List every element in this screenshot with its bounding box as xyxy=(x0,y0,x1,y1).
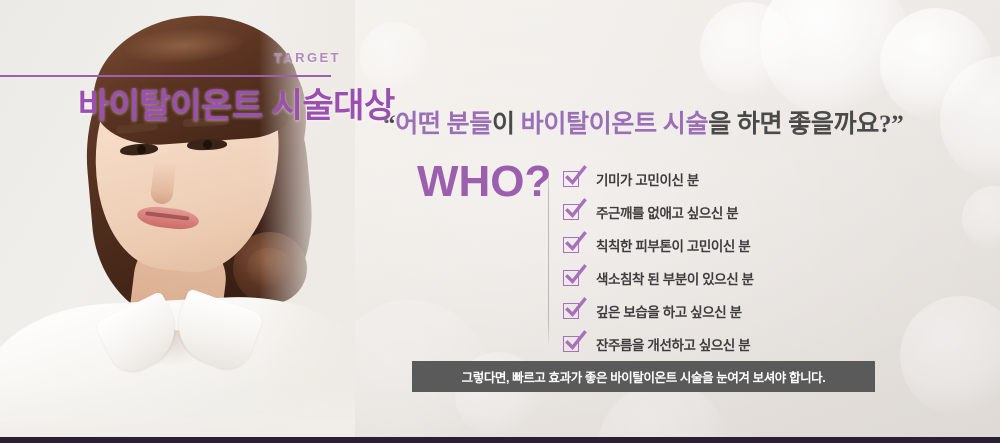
page-title: 바이탈이온트 시술대상 xyxy=(78,78,395,127)
portrait-bottom-fade xyxy=(0,385,355,437)
list-item: 잔주름을 개선하고 싶으신 분 xyxy=(563,330,754,358)
list-item: 주근깨를 없애고 싶으신 분 xyxy=(563,198,754,226)
list-item-label: 칙칙한 피부톤이 고민이신 분 xyxy=(596,235,750,255)
bottom-accent-strip xyxy=(0,437,1000,443)
section-eyebrow-label: TARGET xyxy=(274,50,341,65)
portrait-pupil-right xyxy=(203,140,212,149)
list-item-label: 기미가 고민이신 분 xyxy=(596,169,699,189)
list-item-label: 색소침착 된 부분이 있으신 분 xyxy=(596,268,754,288)
portrait-edge-fade xyxy=(259,0,355,437)
checkmark-icon xyxy=(563,204,579,220)
footnote-text: 그렇다면, 빠르고 효과가 좋은 바이탈이온트 시술을 눈여겨 보셔야 합니다. xyxy=(462,367,826,386)
list-item: 깊은 보습을 하고 싶으신 분 xyxy=(563,297,754,325)
quote-part-3: 바이탈이온트 시술 xyxy=(521,111,709,138)
checkmark-icon xyxy=(563,237,579,253)
promo-banner: TARGET 바이탈이온트 시술대상 “어떤 분들이 바이탈이온트 시술을 하면… xyxy=(0,0,1000,443)
quote-part-2: 이 xyxy=(492,111,521,138)
checkmark-icon xyxy=(563,171,579,187)
title-underline-rule xyxy=(0,75,331,77)
checkmark-icon xyxy=(563,303,579,319)
portrait-pupil-left xyxy=(137,145,146,154)
checkmark-icon xyxy=(563,336,579,352)
list-item-label: 깊은 보습을 하고 싶으신 분 xyxy=(596,301,742,321)
quote-part-1: 어떤 분들 xyxy=(395,111,492,138)
vertical-divider xyxy=(548,166,549,346)
list-item-label: 잔주름을 개선하고 싶으신 분 xyxy=(596,334,750,354)
model-portrait-photo xyxy=(0,0,355,437)
quote-close-mark: ” xyxy=(891,111,903,138)
hero-quote: “어떤 분들이 바이탈이온트 시술을 하면 좋을까요?” xyxy=(383,104,903,140)
who-headline: WHO? xyxy=(417,157,551,207)
list-item: 색소침착 된 부분이 있으신 분 xyxy=(563,264,754,292)
list-item: 기미가 고민이신 분 xyxy=(563,165,754,193)
quote-part-4: 을 하면 좋을까요? xyxy=(708,111,891,138)
list-item: 칙칙한 피부톤이 고민이신 분 xyxy=(563,231,754,259)
list-item-label: 주근깨를 없애고 싶으신 분 xyxy=(596,202,738,222)
target-checklist: 기미가 고민이신 분 주근깨를 없애고 싶으신 분 칙칙한 피부톤이 고민이신 … xyxy=(563,165,754,363)
checkmark-icon xyxy=(563,270,579,286)
footnote-banner: 그렇다면, 빠르고 효과가 좋은 바이탈이온트 시술을 눈여겨 보셔야 합니다. xyxy=(412,361,875,392)
